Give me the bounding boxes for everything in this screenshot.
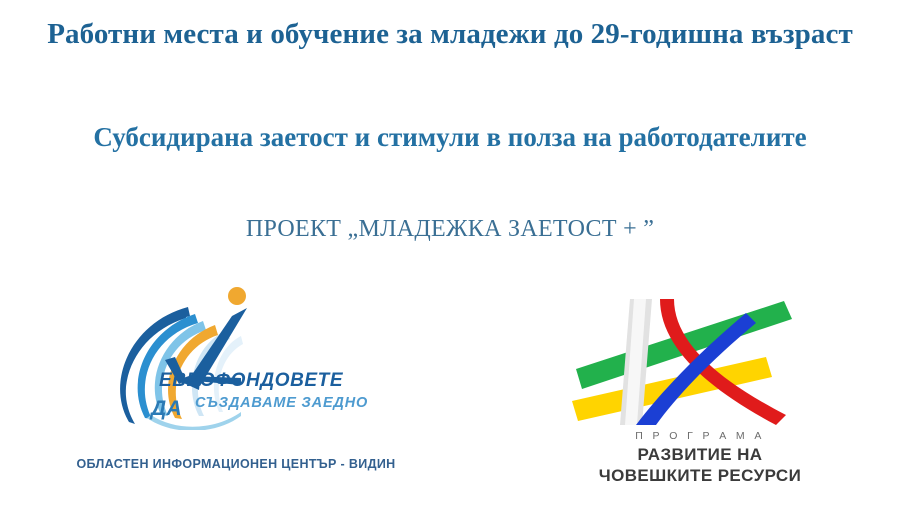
eurofondovete-logo: ДА ЕВРОФОНДОВЕТЕ СЪЗДАВАМЕ ЗАЕДНО ОБЛАСТ… bbox=[36, 275, 436, 506]
page-subtitle: Субсидирана заетост и стимули в полза на… bbox=[0, 117, 900, 157]
logo-row: ДА ЕВРОФОНДОВЕТЕ СЪЗДАВАМЕ ЗАЕДНО ОБЛАСТ… bbox=[0, 275, 900, 506]
hrd-programme-logo: П Р О Г Р А М А РАЗВИТИЕ НА ЧОВЕШКИТЕ РЕ… bbox=[500, 275, 900, 506]
project-block: ПРОЕКТ „МЛАДЕЖКА ЗАЕТОСТ + ” bbox=[0, 213, 900, 245]
subtitle-block: Субсидирана заетост и стимули в полза на… bbox=[0, 117, 900, 157]
eurofondovete-wordmark-line2: СЪЗДАВАМЕ ЗАЕДНО bbox=[195, 395, 389, 411]
page-title: Работни места и обучение за младежи до 2… bbox=[0, 14, 900, 54]
title-block: Работни места и обучение за младежи до 2… bbox=[0, 14, 900, 54]
oic-vidin-caption: ОБЛАСТЕН ИНФОРМАЦИОНЕН ЦЕНТЪР - ВИДИН bbox=[36, 457, 436, 471]
eurofondovete-wordmark-line1: ЕВРОФОНДОВЕТЕ bbox=[159, 370, 389, 392]
presentation-slide: Работни места и обучение за младежи до 2… bbox=[0, 0, 900, 506]
eurofondovete-wordmark: ЕВРОФОНДОВЕТЕ СЪЗДАВАМЕ ЗАЕДНО bbox=[159, 370, 389, 411]
hrd-programme-text: П Р О Г Р А М А РАЗВИТИЕ НА ЧОВЕШКИТЕ РЕ… bbox=[500, 430, 900, 486]
hrd-programme-kicker: П Р О Г Р А М А bbox=[500, 430, 900, 442]
hrd-programme-line1: РАЗВИТИЕ НА bbox=[500, 444, 900, 465]
hrd-programme-line2: ЧОВЕШКИТЕ РЕСУРСИ bbox=[500, 465, 900, 486]
project-name-label: ПРОЕКТ „МЛАДЕЖКА ЗАЕТОСТ + ” bbox=[0, 213, 900, 245]
hrd-programme-emblem-icon bbox=[570, 297, 800, 427]
